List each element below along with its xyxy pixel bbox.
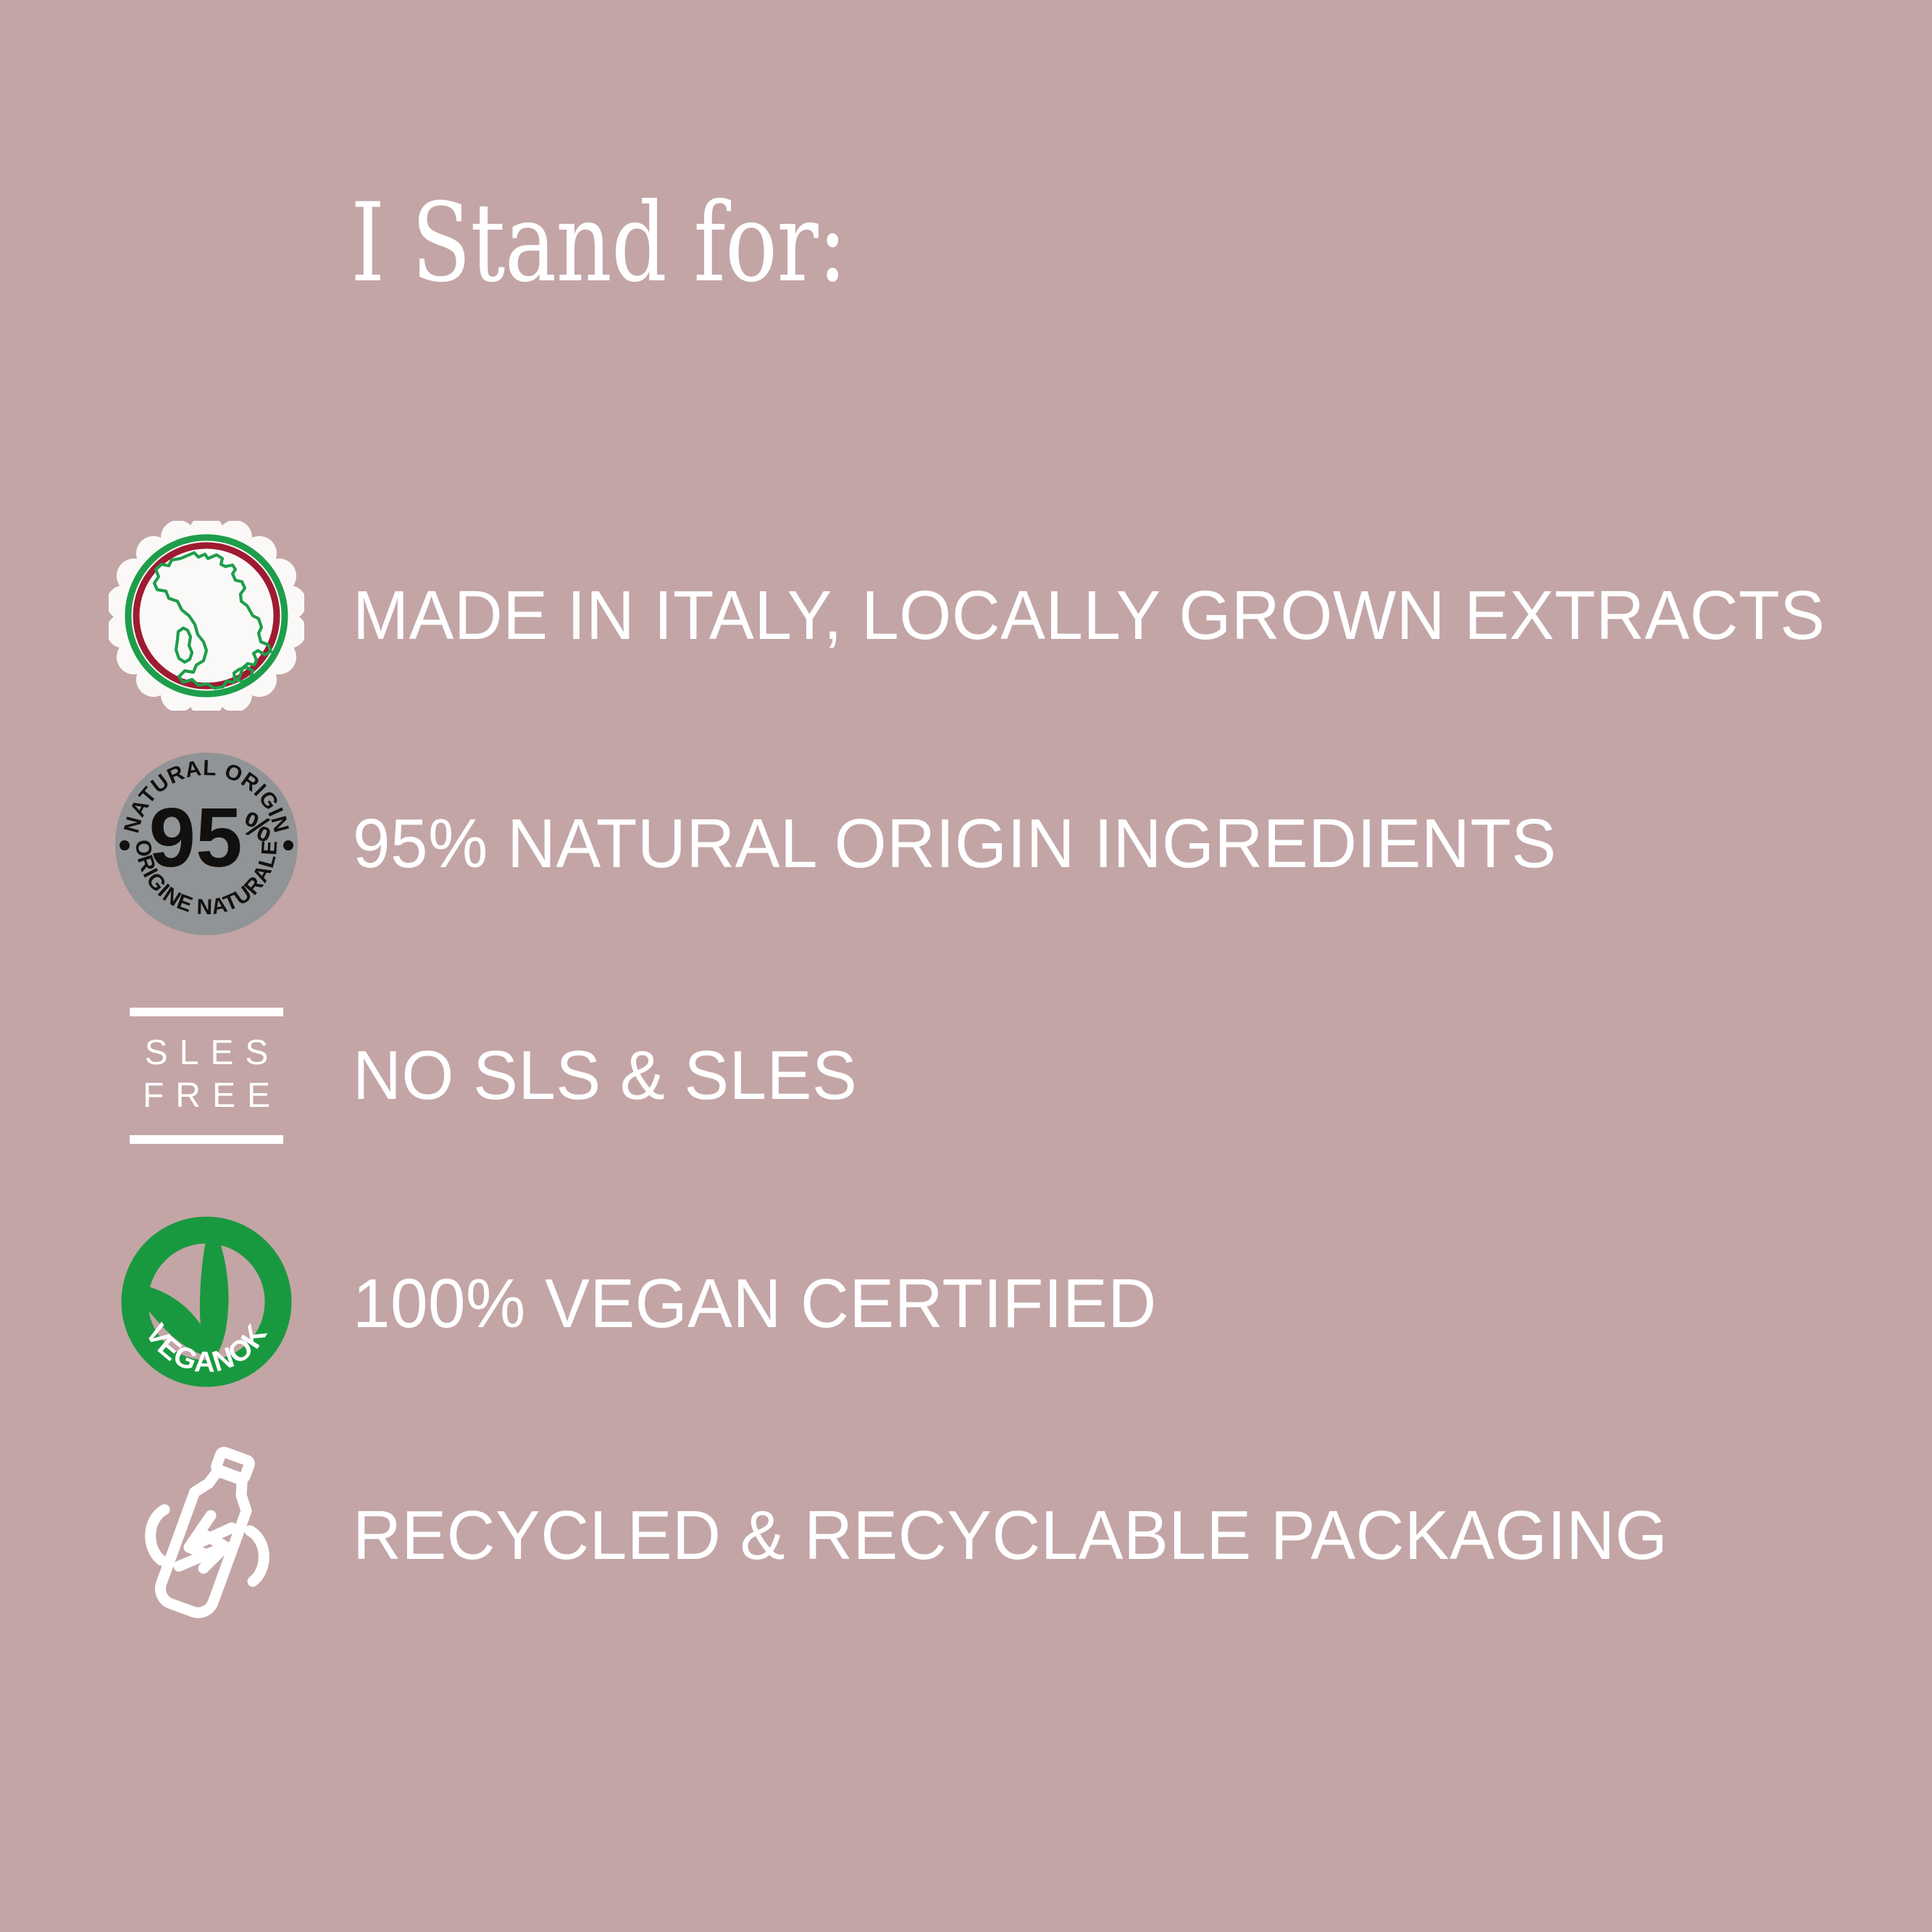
claim-label: 95% NATURAL ORIGIN INGREDIENTS [353,804,1557,884]
claim-label: MADE IN ITALY, LOCALLY GROWN EXTRACTS [353,576,1825,656]
sles-free-text: SLES FREE [131,1016,282,1134]
made-in-italy-badge-icon [101,518,311,714]
claim-row: RECYCLED & RECYCLABLE PACKAGING [0,1438,1932,1634]
badge-value-text: 95 [149,790,242,885]
sles-rule-top [130,1008,283,1016]
claims-list: MADE IN ITALY, LOCALLY GROWN EXTRACTS NA… [0,0,1932,1932]
natural-origin-95-badge-icon: NATURAL ORIGIN ORIGINE NATURALE 95 % [101,746,311,942]
sles-line-1: SLES [131,1032,282,1075]
claim-label: NO SLS & SLES [353,1036,857,1116]
claim-row: SLES FREE NO SLS & SLES [0,978,1932,1174]
veganok-badge-icon: VEGANOK [101,1206,311,1402]
claim-row: NATURAL ORIGIN ORIGINE NATURALE 95 % 95%… [0,746,1932,942]
claim-row: VEGANOK 100% VEGAN CERTIFIED [0,1206,1932,1402]
claim-row: MADE IN ITALY, LOCALLY GROWN EXTRACTS [0,518,1932,714]
sles-free-mark-icon: SLES FREE [101,978,311,1174]
claim-label: 100% VEGAN CERTIFIED [353,1264,1157,1344]
recycled-bottle-icon [101,1438,311,1634]
sles-rule-bottom [130,1135,283,1144]
claim-label: RECYCLED & RECYCLABLE PACKAGING [353,1496,1668,1576]
sles-line-2: FREE [131,1075,282,1118]
